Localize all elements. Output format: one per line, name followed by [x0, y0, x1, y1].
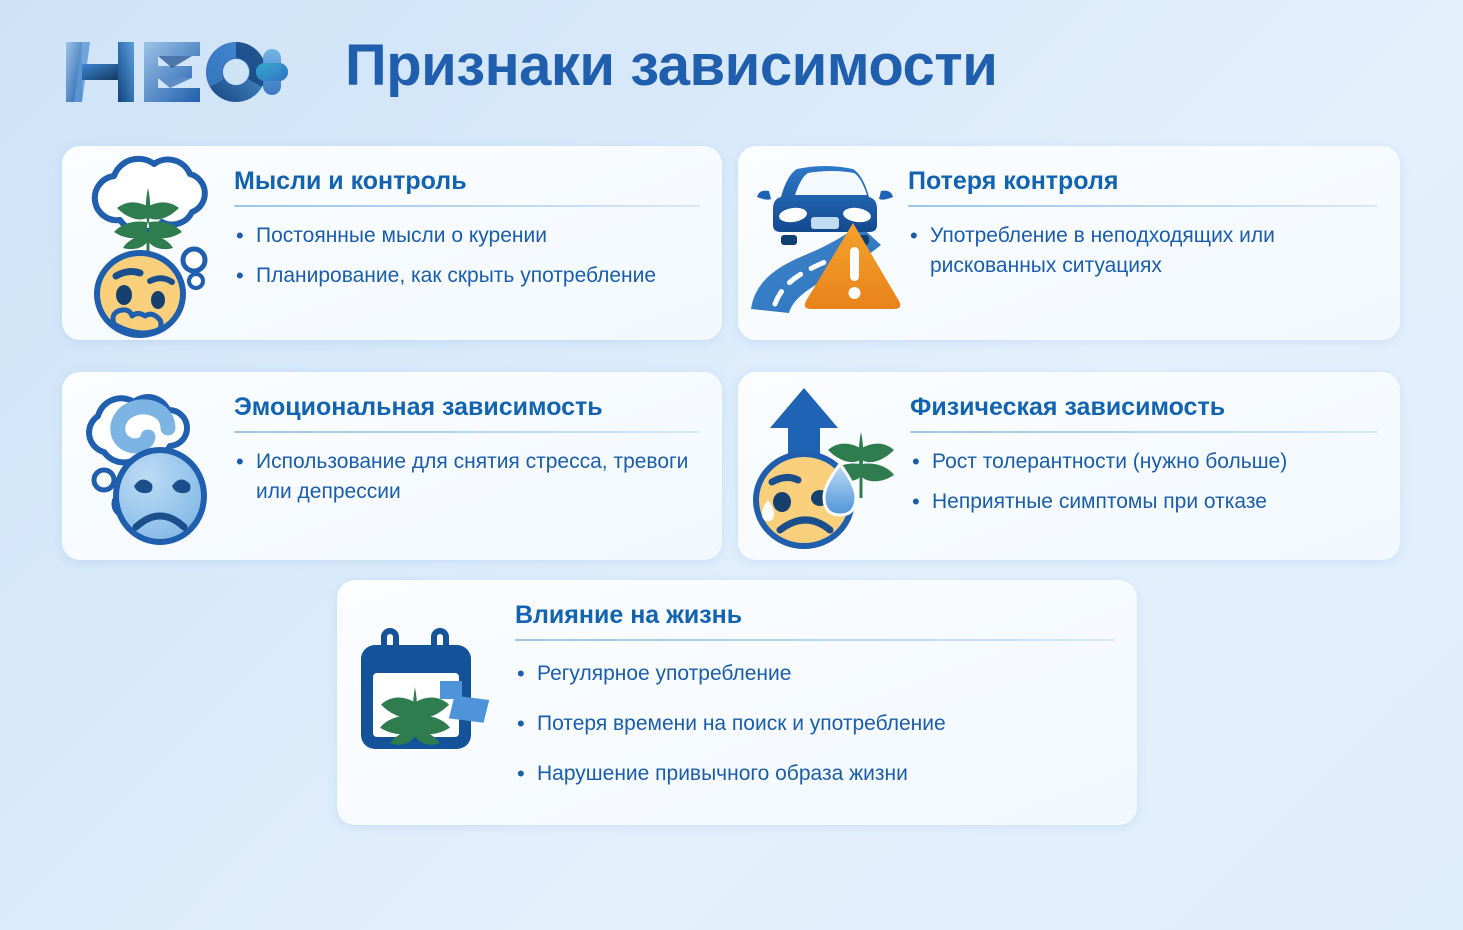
card-body: Мысли и контроль Постоянные мысли о куре…	[234, 146, 722, 291]
list-item: Постоянные мысли о курении	[234, 221, 700, 251]
card-body: Потеря контроля Употребление в неподходя…	[908, 146, 1400, 281]
heading-divider	[908, 205, 1378, 207]
car-road-warning-icon	[738, 146, 908, 326]
card-loss-of-control: Потеря контроля Употребление в неподходя…	[738, 146, 1400, 340]
heading-divider	[234, 205, 700, 207]
thinking-face-cannabis-cloud-icon	[62, 146, 234, 340]
list-item: Использование для снятия стресса, тревог…	[234, 447, 700, 508]
list-item: Рост толерантности (нужно больше)	[910, 447, 1378, 477]
heading-divider	[910, 431, 1378, 433]
list-item: Планирование, как скрыть употребление	[234, 261, 700, 291]
card-life-impact: Влияние на жизнь Регулярное употребление…	[337, 580, 1137, 825]
list-item: Регулярное употребление	[515, 659, 1115, 689]
card-body: Физическая зависимость Рост толерантност…	[910, 372, 1400, 517]
card-body: Влияние на жизнь Регулярное употребление…	[515, 580, 1137, 810]
bullet-list: Употребление в неподходящих или рискован…	[908, 221, 1378, 282]
card-heading: Мысли и контроль	[234, 168, 700, 196]
card-body: Эмоциональная зависимость Использование …	[234, 372, 722, 507]
page-title: Признаки зависимости	[345, 32, 997, 99]
sad-face-thought-cloud-icon	[62, 372, 234, 560]
card-thoughts-and-control: Мысли и контроль Постоянные мысли о куре…	[62, 146, 722, 340]
bullet-list: Постоянные мысли о курении Планирование,…	[234, 221, 700, 292]
list-item: Потеря времени на поиск и употребление	[515, 709, 1115, 739]
card-heading: Потеря контроля	[908, 168, 1378, 196]
card-heading: Физическая зависимость	[910, 394, 1378, 422]
list-item: Неприятные симптомы при отказе	[910, 487, 1378, 517]
neo-plus-logo	[60, 36, 290, 108]
page-header: Признаки зависимости	[0, 30, 1463, 120]
card-physical-dependence: Физическая зависимость Рост толерантност…	[738, 372, 1400, 560]
bullet-list: Использование для снятия стресса, тревог…	[234, 447, 700, 508]
heading-divider	[234, 431, 700, 433]
infographic-page: Признаки зависимости	[0, 0, 1463, 930]
card-heading: Эмоциональная зависимость	[234, 394, 700, 422]
list-item: Употребление в неподходящих или рискован…	[908, 221, 1378, 282]
list-item: Нарушение привычного образа жизни	[515, 759, 1115, 789]
bullet-list: Рост толерантности (нужно больше) Неприя…	[910, 447, 1378, 518]
calendar-cannabis-icon	[337, 580, 515, 794]
heading-divider	[515, 639, 1115, 641]
arrow-up-leaf-sweating-face-icon	[738, 372, 910, 560]
card-heading: Влияние на жизнь	[515, 602, 1115, 630]
card-emotional-dependence: Эмоциональная зависимость Использование …	[62, 372, 722, 560]
bullet-list: Регулярное употребление Потеря времени н…	[515, 659, 1115, 790]
